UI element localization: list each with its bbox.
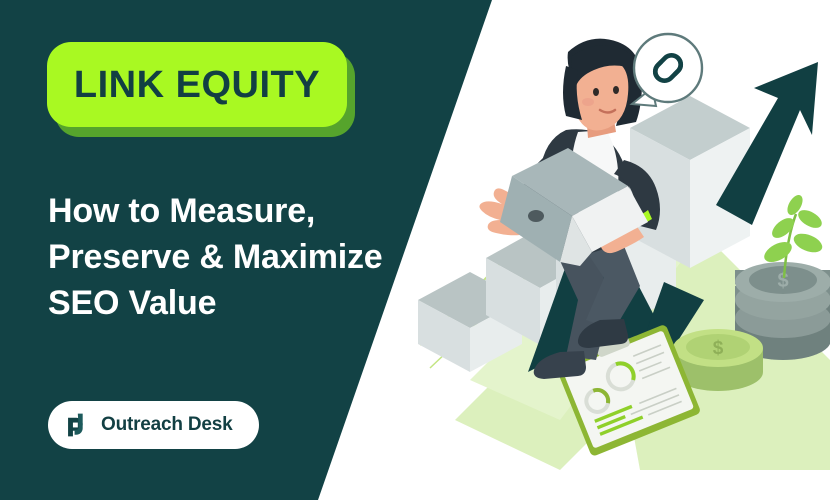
svg-text:$: $ (777, 270, 788, 292)
badge-label: LINK EQUITY (74, 66, 320, 104)
headline-line-2: Preserve & Maximize (48, 234, 448, 280)
svg-text:$: $ (713, 338, 724, 359)
headline-line-1: How to Measure, (48, 188, 448, 234)
logo-text: Outreach Desk (101, 414, 233, 436)
outreach-desk-logo[interactable]: Outreach Desk (48, 401, 259, 449)
outreach-desk-logomark-icon (64, 412, 90, 438)
badge-body: LINK EQUITY (47, 42, 347, 127)
link-equity-badge: LINK EQUITY (47, 42, 347, 127)
banner-root: $ $ (0, 0, 830, 500)
headline: How to Measure, Preserve & Maximize SEO … (48, 188, 448, 327)
headline-line-3: SEO Value (48, 280, 448, 326)
